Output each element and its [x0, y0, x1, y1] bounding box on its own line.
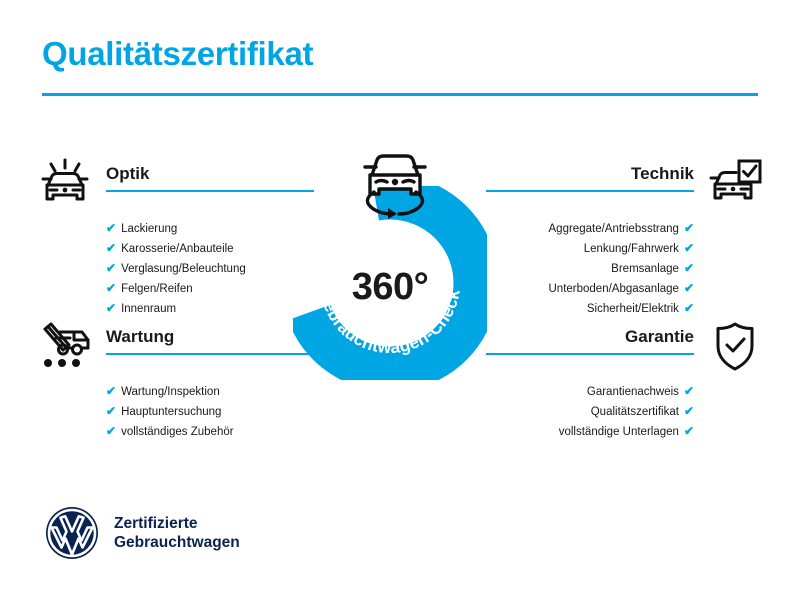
list-item: Lenkung/Fahrwerk✔	[482, 239, 764, 259]
section-wartung: Wartung ✔Wartung/Inspektion ✔Hauptunters…	[36, 318, 318, 442]
check-icon: ✔	[684, 281, 694, 295]
list-item: ✔Hauptuntersuchung	[36, 402, 318, 422]
title-divider	[42, 93, 758, 96]
check-icon: ✔	[106, 424, 116, 438]
page-title: Qualitätszertifikat	[42, 36, 758, 72]
section-title-wrap-wartung: Wartung	[106, 328, 314, 355]
list-item: ✔Felgen/Reifen	[36, 279, 318, 299]
list-item-label: Verglasung/Beleuchtung	[121, 263, 246, 275]
list-item: Aggregate/Antriebsstrang✔	[482, 219, 764, 239]
check-icon: ✔	[684, 301, 694, 315]
title-block: Qualitätszertifikat	[42, 36, 758, 96]
list-item: Bremsanlage✔	[482, 259, 764, 279]
footer-brand-text: Zertifizierte Gebrauchtwagen	[114, 514, 240, 552]
list-item-label: Wartung/Inspektion	[121, 386, 220, 398]
list-item: ✔vollständiges Zubehör	[36, 422, 318, 442]
section-technik: Technik Aggregate/Antriebsstrang✔ Lenkun…	[482, 155, 764, 319]
check-icon: ✔	[106, 281, 116, 295]
badge-360-gebrauchtwagen-check: Gebrauchtwagen-Check 360°	[293, 148, 508, 380]
section-header-technik: Technik	[482, 155, 764, 213]
check-icon: ✔	[684, 241, 694, 255]
list-item-label: Lackierung	[121, 223, 177, 235]
section-underline-garantie	[486, 353, 694, 355]
section-header-garantie: Garantie	[482, 318, 764, 376]
checklist-garantie: Garantienachweis✔ Qualitätszertifikat✔ v…	[482, 382, 764, 442]
check-icon: ✔	[684, 384, 694, 398]
list-item-label: Bremsanlage	[611, 263, 679, 275]
footer-brand: Zertifizierte Gebrauchtwagen	[44, 505, 240, 561]
list-item-label: Felgen/Reifen	[121, 283, 193, 295]
list-item: Qualitätszertifikat✔	[482, 402, 764, 422]
check-icon: ✔	[106, 221, 116, 235]
check-icon: ✔	[106, 404, 116, 418]
list-item-label: Garantienachweis	[587, 386, 679, 398]
section-underline-technik	[486, 190, 694, 192]
section-title-wrap-optik: Optik	[106, 165, 314, 192]
shield-check-icon	[706, 318, 764, 376]
check-icon: ✔	[684, 261, 694, 275]
footer-line-2: Gebrauchtwagen	[114, 533, 240, 552]
list-item-label: Unterboden/Abgasanlage	[549, 283, 679, 295]
list-item: Sicherheit/Elektrik✔	[482, 299, 764, 319]
section-title-wartung: Wartung	[106, 328, 314, 347]
check-icon: ✔	[106, 261, 116, 275]
list-item-label: Lenkung/Fahrwerk	[584, 243, 679, 255]
list-item-label: Aggregate/Antriebsstrang	[549, 223, 679, 235]
check-icon: ✔	[106, 241, 116, 255]
list-item-label: vollständiges Zubehör	[121, 426, 234, 438]
list-item-label: Karosserie/Anbauteile	[121, 243, 234, 255]
section-header-optik: Optik	[36, 155, 318, 213]
list-item-label: Sicherheit/Elektrik	[587, 303, 679, 315]
section-title-wrap-technik: Technik	[486, 165, 694, 192]
section-garantie: Garantie Garantienachweis✔ Qualitätszert…	[482, 318, 764, 442]
car-shine-icon	[36, 155, 94, 213]
list-item-label: Qualitätszertifikat	[591, 406, 679, 418]
check-icon: ✔	[106, 384, 116, 398]
vw-roundel-logo	[44, 505, 100, 561]
check-icon: ✔	[684, 404, 694, 418]
list-item: ✔Wartung/Inspektion	[36, 382, 318, 402]
section-underline-optik	[106, 190, 314, 192]
list-item: ✔Lackierung	[36, 219, 318, 239]
section-underline-wartung	[106, 353, 314, 355]
check-icon: ✔	[684, 424, 694, 438]
list-item: ✔Verglasung/Beleuchtung	[36, 259, 318, 279]
list-item: Unterboden/Abgasanlage✔	[482, 279, 764, 299]
car-checkbox-icon	[706, 155, 764, 213]
check-icon: ✔	[684, 221, 694, 235]
list-item-label: Hauptuntersuchung	[121, 406, 221, 418]
list-item: vollständige Unterlagen✔	[482, 422, 764, 442]
checklist-technik: Aggregate/Antriebsstrang✔ Lenkung/Fahrwe…	[482, 219, 764, 319]
section-header-wartung: Wartung	[36, 318, 318, 376]
footer-line-1: Zertifizierte	[114, 514, 240, 533]
list-item: ✔Innenraum	[36, 299, 318, 319]
section-title-optik: Optik	[106, 165, 314, 184]
section-title-technik: Technik	[486, 165, 694, 184]
list-item: Garantienachweis✔	[482, 382, 764, 402]
badge-center-label: 360°	[293, 266, 487, 309]
section-title-garantie: Garantie	[486, 328, 694, 347]
list-item-label: vollständige Unterlagen	[559, 426, 679, 438]
list-item-label: Innenraum	[121, 303, 176, 315]
section-optik: Optik ✔Lackierung ✔Karosserie/Anbauteile…	[36, 155, 318, 319]
service-pen-car-icon	[36, 318, 94, 376]
section-title-wrap-garantie: Garantie	[486, 328, 694, 355]
car-rotation-icon	[350, 148, 440, 222]
check-icon: ✔	[106, 301, 116, 315]
checklist-optik: ✔Lackierung ✔Karosserie/Anbauteile ✔Verg…	[36, 219, 318, 319]
list-item: ✔Karosserie/Anbauteile	[36, 239, 318, 259]
checklist-wartung: ✔Wartung/Inspektion ✔Hauptuntersuchung ✔…	[36, 382, 318, 442]
